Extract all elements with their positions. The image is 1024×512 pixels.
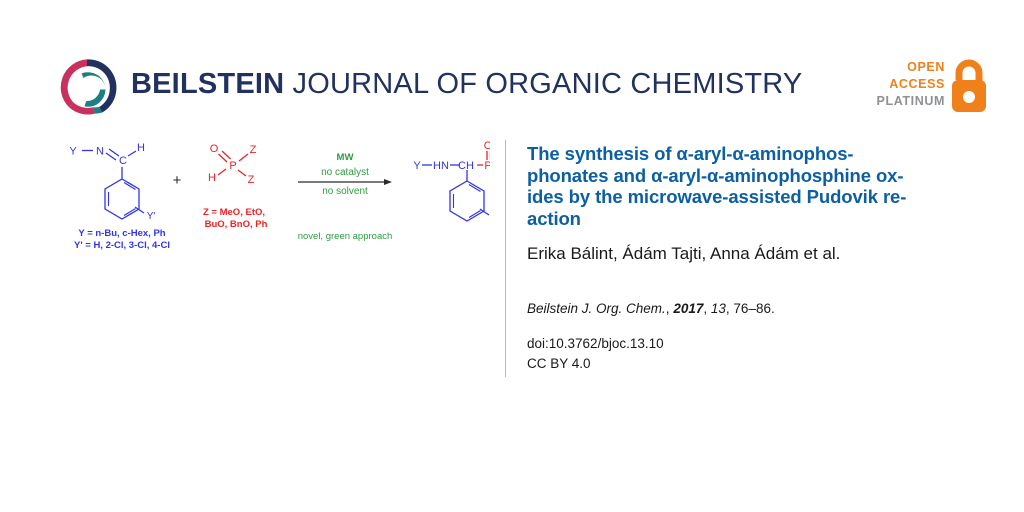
reaction-scheme: Y N C H Y' Y = n-Bu, c-Hex, Ph Y' = H, 2…: [40, 135, 490, 265]
article-license[interactable]: CC BY 4.0: [527, 354, 967, 374]
citation-journal: Beilstein J. Org. Chem.: [527, 301, 666, 316]
page-header: BEILSTEIN JOURNAL OF ORGANIC CHEMISTRY O…: [0, 0, 1024, 130]
reaction-conditions: MW no catalyst no solvent novel, green a…: [298, 152, 393, 242]
imine-label-C: C: [119, 155, 127, 167]
open-access-line-2: ACCESS: [877, 76, 945, 93]
vertical-divider: [505, 140, 506, 377]
reactant-phosphorus: O P H Z Z: [208, 143, 257, 186]
article-info: The synthesis of α-aryl-α-aminophos- pho…: [527, 143, 967, 374]
reactant-imine-legend: Y = n-Bu, c-Hex, Ph Y' = H, 2-Cl, 3-Cl, …: [74, 228, 170, 251]
phosphorus-legend-line-1: Z = MeO, EtO,: [203, 207, 265, 218]
imine-label-N: N: [96, 146, 104, 158]
article-authors: Erika Bálint, Ádám Tajti, Anna Ádám et a…: [527, 243, 967, 264]
phosphorus-label-H: H: [208, 172, 216, 184]
article-citation: Beilstein J. Org. Chem., 2017, 13, 76–86…: [527, 300, 967, 318]
product-label-Y: Y: [413, 160, 421, 172]
product-label-CH: CH: [458, 160, 474, 172]
imine-label-Y: Y: [69, 146, 77, 158]
open-access-line-3: PLATINUM: [877, 93, 945, 110]
open-access-line-1: OPEN: [877, 59, 945, 76]
open-lock-icon: [948, 58, 990, 114]
imine-legend-line-2: Y' = H, 2-Cl, 3-Cl, 4-Cl: [74, 240, 170, 251]
wordmark-light: JOURNAL OF ORGANIC CHEMISTRY: [284, 68, 802, 100]
phosphorus-legend-line-2: BuO, BnO, Ph: [205, 219, 268, 230]
article-title-line-1: The synthesis of α-aryl-α-aminophos-: [527, 143, 854, 164]
imine-legend-line-1: Y = n-Bu, c-Hex, Ph: [78, 228, 165, 239]
product-label-O: O: [484, 140, 490, 152]
product-label-P: P: [484, 160, 490, 172]
product-label-HN: HN: [433, 160, 449, 172]
condition-below-1: no solvent: [322, 186, 368, 197]
citation-volume: 13: [711, 301, 726, 316]
citation-pages: 76–86.: [733, 301, 774, 316]
open-access-badge: OPEN ACCESS PLATINUM: [878, 58, 990, 116]
citation-sep-2: ,: [703, 301, 711, 316]
phosphorus-label-O: O: [210, 143, 219, 155]
phosphorus-label-P: P: [229, 160, 236, 172]
article-title-line-2: phonates and α-aryl-α-aminophosphine ox-: [527, 165, 903, 186]
article-title-line-4: action: [527, 208, 581, 229]
wordmark-bold: BEILSTEIN: [131, 68, 284, 100]
article-title-line-3: ides by the microwave-assisted Pudovik r…: [527, 186, 906, 207]
open-access-label: OPEN ACCESS PLATINUM: [877, 59, 945, 110]
reaction-arrow: [298, 179, 392, 185]
imine-label-Yprime: Y': [147, 211, 156, 222]
product-aminophosphonate: Y HN CH Y' P O Z Z: [413, 140, 490, 224]
scheme-tagline: novel, green approach: [298, 231, 393, 242]
phosphorus-label-Z1: Z: [250, 144, 257, 156]
article-title[interactable]: The synthesis of α-aryl-α-aminophos- pho…: [527, 143, 967, 229]
condition-above-2: no catalyst: [321, 167, 369, 178]
article-doi[interactable]: doi:10.3762/bjoc.13.10: [527, 334, 967, 354]
reactant-phosphorus-legend: Z = MeO, EtO, BuO, BnO, Ph: [203, 207, 268, 230]
reactant-imine: Y N C H Y': [69, 142, 155, 222]
condition-above-1: MW: [337, 152, 354, 163]
imine-label-H: H: [137, 142, 145, 154]
journal-wordmark: BEILSTEIN JOURNAL OF ORGANIC CHEMISTRY: [131, 68, 802, 101]
plus-sign: +: [173, 172, 182, 189]
citation-year: 2017: [673, 301, 703, 316]
phosphorus-label-Z2: Z: [248, 174, 255, 186]
beilstein-spiral-logo-icon: [57, 55, 121, 119]
